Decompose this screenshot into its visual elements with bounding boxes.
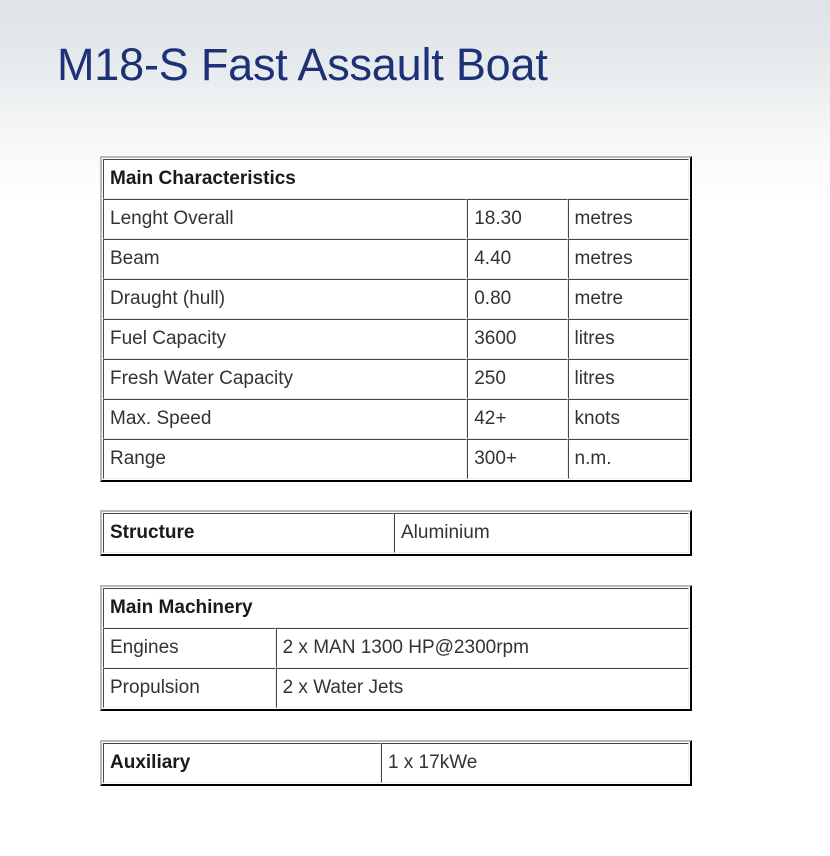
structure-value: Aluminium: [394, 513, 689, 553]
page-background: M18-S Fast Assault Boat Main Characteris…: [0, 0, 830, 856]
row-value: 18.30: [467, 199, 567, 239]
table-row: Beam 4.40 metres: [103, 239, 689, 279]
table-row: Fresh Water Capacity 250 litres: [103, 359, 689, 399]
table-row: Propulsion 2 x Water Jets: [103, 668, 689, 708]
row-label: Draught (hull): [103, 279, 467, 319]
structure-table: Structure Aluminium: [100, 510, 692, 556]
row-value: 0.80: [467, 279, 567, 319]
row-value: 4.40: [467, 239, 567, 279]
row-unit: knots: [568, 399, 689, 439]
row-value: 250: [467, 359, 567, 399]
row-unit: litres: [568, 359, 689, 399]
row-label: Max. Speed: [103, 399, 467, 439]
row-unit: metres: [568, 199, 689, 239]
row-value: 2 x MAN 1300 HP@2300rpm: [276, 628, 689, 668]
auxiliary-label: Auxiliary: [103, 743, 381, 783]
table-row: Auxiliary 1 x 17kWe: [103, 743, 689, 783]
table-row: Structure Aluminium: [103, 513, 689, 553]
auxiliary-table: Auxiliary 1 x 17kWe: [100, 740, 692, 786]
row-value: 2 x Water Jets: [276, 668, 689, 708]
main-machinery-header: Main Machinery: [103, 588, 689, 628]
auxiliary-value: 1 x 17kWe: [381, 743, 689, 783]
page-content: M18-S Fast Assault Boat Main Characteris…: [0, 0, 830, 856]
main-characteristics-table: Main Characteristics Lenght Overall 18.3…: [100, 156, 692, 482]
row-label: Fresh Water Capacity: [103, 359, 467, 399]
table-row: Draught (hull) 0.80 metre: [103, 279, 689, 319]
row-label: Beam: [103, 239, 467, 279]
page-title: M18-S Fast Assault Boat: [57, 37, 548, 93]
table-row: Fuel Capacity 3600 litres: [103, 319, 689, 359]
row-unit: litres: [568, 319, 689, 359]
row-unit: metre: [568, 279, 689, 319]
table-header-row: Main Machinery: [103, 588, 689, 628]
main-characteristics-header: Main Characteristics: [103, 159, 689, 199]
table-row: Lenght Overall 18.30 metres: [103, 199, 689, 239]
row-label: Range: [103, 439, 467, 479]
row-unit: n.m.: [568, 439, 689, 479]
row-label: Propulsion: [103, 668, 276, 708]
main-machinery-table: Main Machinery Engines 2 x MAN 1300 HP@2…: [100, 585, 692, 711]
structure-label: Structure: [103, 513, 394, 553]
row-unit: metres: [568, 239, 689, 279]
row-label: Lenght Overall: [103, 199, 467, 239]
table-row: Max. Speed 42+ knots: [103, 399, 689, 439]
row-value: 300+: [467, 439, 567, 479]
table-row: Engines 2 x MAN 1300 HP@2300rpm: [103, 628, 689, 668]
row-value: 3600: [467, 319, 567, 359]
table-row: Range 300+ n.m.: [103, 439, 689, 479]
row-value: 42+: [467, 399, 567, 439]
table-header-row: Main Characteristics: [103, 159, 689, 199]
row-label: Fuel Capacity: [103, 319, 467, 359]
row-label: Engines: [103, 628, 276, 668]
